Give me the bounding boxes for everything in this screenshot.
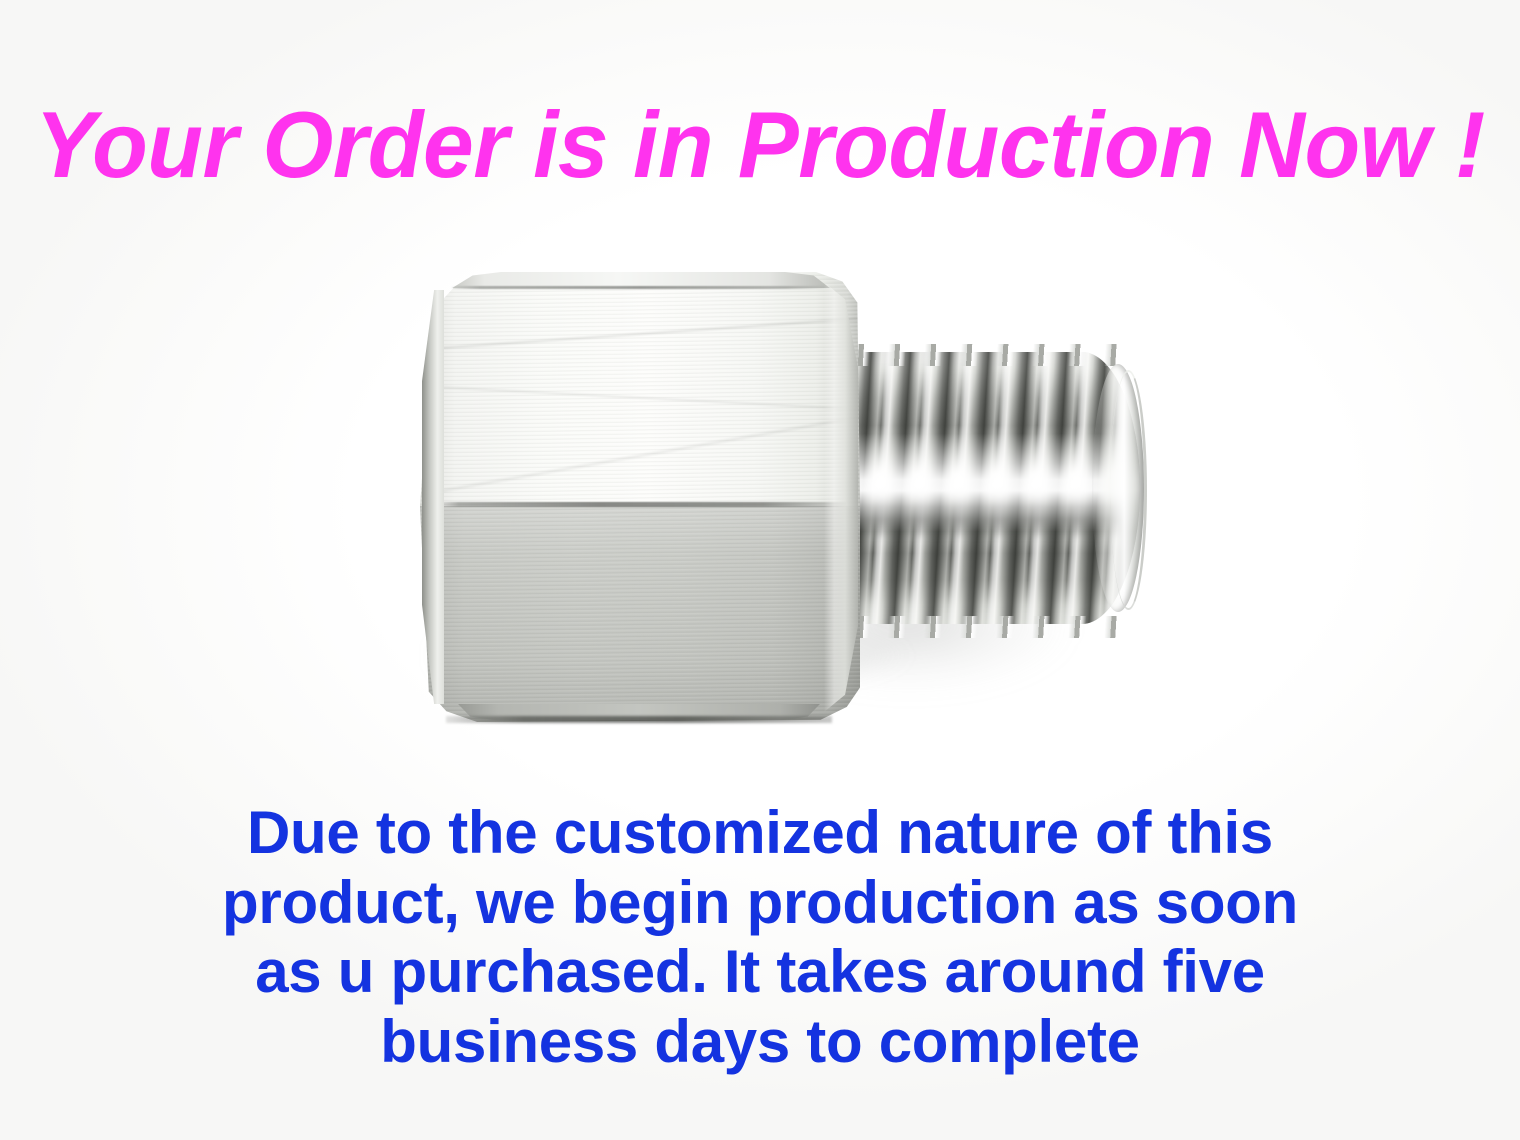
hex-facet-lower <box>420 506 860 722</box>
threaded-male-end <box>810 338 1160 638</box>
page-title: Your Order is in Production Now ! <box>23 96 1497 195</box>
production-notice-line-2: product, we begin production as soon <box>160 868 1360 938</box>
hex-left-chamfer <box>422 290 444 704</box>
product-image <box>380 250 1220 770</box>
hex-facet-ridge <box>434 502 846 507</box>
promo-banner: Your Order is in Production Now ! <box>0 0 1520 1140</box>
hex-right-chamfer <box>824 282 858 712</box>
hex-body <box>420 272 860 722</box>
hex-facet-upper <box>420 272 860 508</box>
production-notice: Due to the customized nature of this pro… <box>160 798 1360 1076</box>
thread-crests-top <box>814 344 1134 366</box>
hex-top-hairline <box>450 286 832 289</box>
thread-end-rim <box>1110 370 1147 610</box>
production-notice-line-1: Due to the customized nature of this <box>160 798 1360 868</box>
hex-bottom-shadow <box>446 716 832 723</box>
thread-crests-bottom <box>814 616 1134 638</box>
production-notice-line-3: as u purchased. It takes around five <box>160 937 1360 1007</box>
production-notice-line-4: business days to complete <box>160 1007 1360 1077</box>
